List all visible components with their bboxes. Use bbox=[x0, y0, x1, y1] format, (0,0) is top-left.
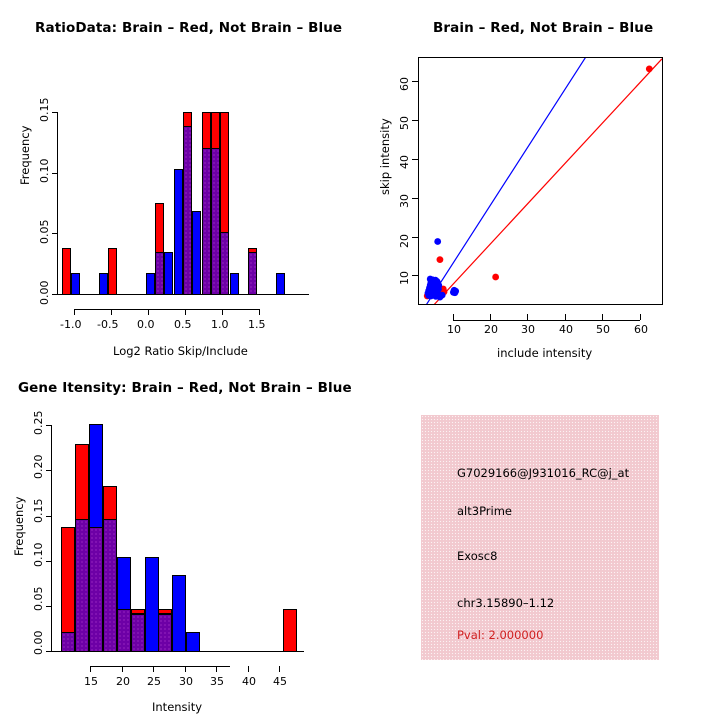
histogram-bar bbox=[131, 614, 145, 652]
gene-ytick-4: 0.20 bbox=[32, 455, 45, 480]
gene-xtick-2: 25 bbox=[147, 675, 161, 688]
histogram-bar bbox=[62, 248, 71, 295]
info-pval: Pval: 2.000000 bbox=[457, 628, 543, 642]
histogram-bar bbox=[248, 252, 257, 295]
histogram-bar bbox=[183, 126, 192, 295]
histogram-bar bbox=[108, 248, 117, 295]
ratio-ytick-3: 0.15 bbox=[38, 98, 51, 123]
ratio-histogram-ylabel: Frequency bbox=[18, 126, 32, 185]
gene-ytick-mark-5 bbox=[46, 425, 52, 426]
scatter-xtick-mark-1 bbox=[490, 314, 491, 320]
gene-ytick-mark-4 bbox=[46, 470, 52, 471]
histogram-bar bbox=[99, 273, 108, 295]
histogram-bar bbox=[103, 486, 117, 520]
ratio-ytick-0: 0.00 bbox=[38, 281, 51, 306]
histogram-bar bbox=[283, 609, 297, 652]
gene-xtick-6: 45 bbox=[273, 675, 287, 688]
scatter-point bbox=[434, 238, 441, 245]
scatter-xtick-mark-0 bbox=[453, 314, 454, 320]
histogram-bar bbox=[117, 609, 131, 652]
scatter-xtick-1: 20 bbox=[484, 323, 498, 336]
histogram-bar bbox=[103, 519, 117, 652]
gene-xtick-3: 30 bbox=[179, 675, 193, 688]
gene-ytick-3: 0.15 bbox=[32, 499, 45, 524]
info-panel-container: G7029166@J931016_RC@j_at alt3Prime Exosc… bbox=[360, 360, 720, 720]
ratio-x-axis bbox=[74, 309, 259, 310]
gene-ytick-mark-1 bbox=[46, 606, 52, 607]
gene-xtick-0: 15 bbox=[84, 675, 98, 688]
scatter-xtick-5: 60 bbox=[634, 323, 648, 336]
histogram-bar bbox=[202, 148, 211, 295]
histogram-bar bbox=[174, 169, 183, 295]
histogram-bar bbox=[89, 527, 103, 652]
scatter-xtick-mark-4 bbox=[602, 314, 603, 320]
gene-xtick-mark-6 bbox=[279, 666, 280, 672]
ratio-xtick-4: 1.0 bbox=[211, 318, 229, 331]
scatter-point bbox=[492, 274, 499, 281]
histogram-bar bbox=[276, 273, 285, 295]
gene-ytick-mark-3 bbox=[46, 516, 52, 517]
histogram-bar bbox=[220, 232, 229, 295]
gene-xtick-4: 35 bbox=[210, 675, 224, 688]
scatter-xtick-3: 40 bbox=[559, 323, 573, 336]
scatter-point bbox=[450, 289, 457, 296]
histogram-bar bbox=[211, 148, 220, 295]
scatter-xtick-4: 50 bbox=[596, 323, 610, 336]
ratio-xtick-5: 1.5 bbox=[248, 318, 266, 331]
scatter-point bbox=[439, 292, 446, 299]
ratio-histogram-panel: RatioData: Brain – Red, Not Brain – Blue… bbox=[0, 0, 360, 360]
intensity-scatter-panel: Brain – Red, Not Brain – Blue skip inten… bbox=[360, 0, 720, 360]
scatter-point bbox=[646, 65, 653, 72]
scatter-xlabel: include intensity bbox=[497, 346, 592, 360]
info-probe-id: G7029166@J931016_RC@j_at bbox=[457, 466, 629, 480]
blue-fit-line bbox=[419, 0, 662, 316]
histogram-bar bbox=[202, 112, 211, 149]
histogram-bar bbox=[164, 252, 173, 295]
info-gene-symbol: Exosc8 bbox=[457, 549, 497, 563]
histogram-bar bbox=[75, 519, 89, 652]
gene-intensity-xlabel: Intensity bbox=[152, 700, 202, 714]
scatter-canvas bbox=[360, 0, 720, 360]
info-locus: chr3.15890–1.12 bbox=[457, 596, 554, 610]
gene-xtick-1: 20 bbox=[116, 675, 130, 688]
ratio-xtick-2: 0.0 bbox=[137, 318, 155, 331]
histogram-bar bbox=[117, 557, 131, 610]
histogram-bar bbox=[155, 203, 164, 253]
ratio-xtick-mark-2 bbox=[148, 309, 149, 315]
histogram-bar bbox=[61, 632, 75, 652]
red-fit-line bbox=[419, 59, 662, 321]
histogram-bar bbox=[172, 575, 186, 652]
gene-xtick-mark-5 bbox=[248, 666, 249, 672]
gene-intensity-title: Gene Itensity: Brain – Red, Not Brain – … bbox=[18, 380, 352, 396]
gene-x-axis bbox=[90, 666, 230, 667]
ratio-ytick-2: 0.10 bbox=[38, 159, 51, 184]
ratio-xtick-mark-1 bbox=[111, 309, 112, 315]
ratio-y-axis bbox=[57, 112, 58, 294]
histogram-bar bbox=[211, 112, 220, 149]
scatter-xtick-2: 30 bbox=[521, 323, 535, 336]
gene-y-axis bbox=[51, 425, 52, 651]
gene-ytick-2: 0.10 bbox=[32, 543, 45, 568]
histogram-bar bbox=[158, 614, 172, 652]
gene-info-panel: G7029166@J931016_RC@j_at alt3Prime Exosc… bbox=[421, 415, 659, 660]
gene-ytick-mark-2 bbox=[46, 561, 52, 562]
gene-xtick-mark-2 bbox=[153, 666, 154, 672]
gene-ytick-1: 0.05 bbox=[32, 587, 45, 612]
ratio-xtick-3: 0.5 bbox=[174, 318, 192, 331]
ratio-xtick-mark-0 bbox=[74, 309, 75, 315]
scatter-xtick-mark-2 bbox=[527, 314, 528, 320]
ratio-xtick-mark-5 bbox=[259, 309, 260, 315]
plot-page: RatioData: Brain – Red, Not Brain – Blue… bbox=[0, 0, 720, 720]
histogram-bar bbox=[61, 527, 75, 633]
histogram-bar bbox=[145, 557, 159, 652]
ratio-xtick-0: -1.0 bbox=[60, 318, 81, 331]
ratio-ytick-mark-1 bbox=[52, 233, 58, 234]
gene-xtick-mark-3 bbox=[185, 666, 186, 672]
histogram-bar bbox=[155, 252, 164, 295]
gene-xtick-mark-4 bbox=[216, 666, 217, 672]
gene-intensity-panel: Gene Itensity: Brain – Red, Not Brain – … bbox=[0, 360, 360, 720]
ratio-xtick-mark-4 bbox=[222, 309, 223, 315]
scatter-xtick-0: 10 bbox=[447, 323, 461, 336]
scatter-xtick-mark-5 bbox=[640, 314, 641, 320]
ratio-histogram-xlabel: Log2 Ratio Skip/Include bbox=[113, 344, 248, 358]
gene-xtick-mark-1 bbox=[122, 666, 123, 672]
gene-xtick-mark-0 bbox=[90, 666, 91, 672]
ratio-xtick-mark-3 bbox=[185, 309, 186, 315]
histogram-bar bbox=[192, 211, 201, 295]
histogram-bar bbox=[220, 112, 229, 233]
histogram-bar bbox=[230, 273, 239, 295]
gene-intensity-ylabel: Frequency bbox=[12, 497, 26, 556]
ratio-ytick-mark-3 bbox=[52, 112, 58, 113]
ratio-xtick-1: -0.5 bbox=[97, 318, 118, 331]
histogram-bar bbox=[89, 424, 103, 528]
gene-ytick-0: 0.00 bbox=[32, 631, 45, 656]
gene-ytick-5: 0.25 bbox=[32, 411, 45, 436]
scatter-point bbox=[437, 256, 444, 263]
histogram-bar bbox=[186, 632, 200, 652]
ratio-ytick-1: 0.05 bbox=[38, 220, 51, 245]
gene-xtick-5: 40 bbox=[242, 675, 256, 688]
info-event-type: alt3Prime bbox=[457, 504, 512, 518]
ratio-ytick-mark-2 bbox=[52, 173, 58, 174]
histogram-bar bbox=[71, 273, 80, 295]
histogram-bar bbox=[146, 273, 155, 295]
scatter-xtick-mark-3 bbox=[565, 314, 566, 320]
scatter-x-axis bbox=[453, 320, 640, 321]
histogram-bar bbox=[75, 444, 89, 520]
ratio-histogram-title: RatioData: Brain – Red, Not Brain – Blue bbox=[35, 20, 342, 36]
histogram-bar bbox=[183, 112, 192, 127]
